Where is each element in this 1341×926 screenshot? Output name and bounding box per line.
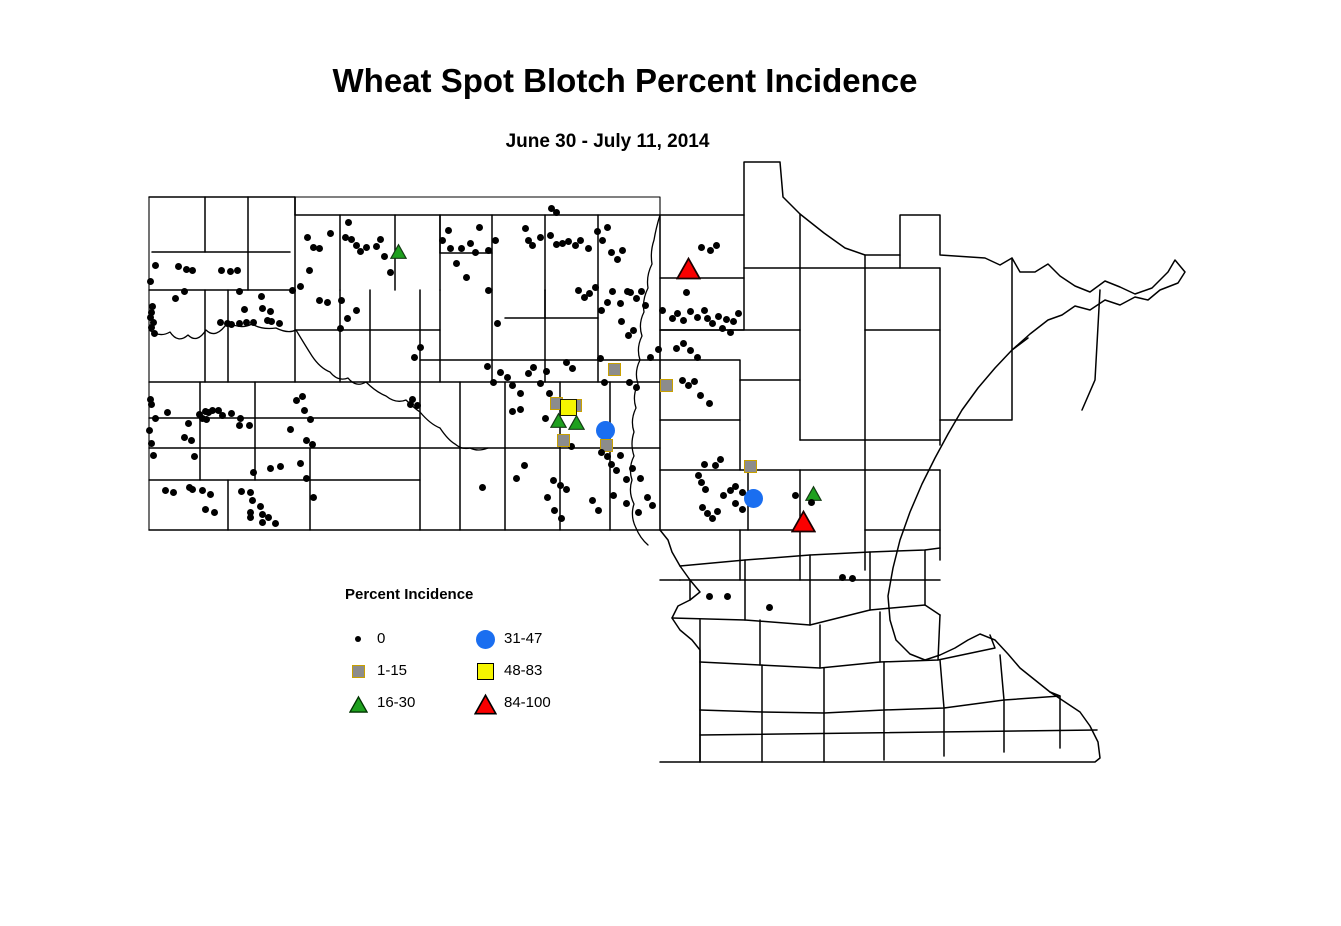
incidence-point-0 <box>267 465 274 472</box>
incidence-point-0 <box>522 225 529 232</box>
incidence-point-0 <box>739 489 746 496</box>
incidence-point-0 <box>674 310 681 317</box>
incidence-point-0 <box>638 288 645 295</box>
incidence-point-0 <box>623 500 630 507</box>
incidence-point-0 <box>265 514 272 521</box>
incidence-point-0 <box>250 319 257 326</box>
red-triangle-icon <box>472 690 498 716</box>
incidence-point-0 <box>517 406 524 413</box>
yellow-square-icon <box>472 658 498 684</box>
incidence-point-0 <box>152 415 159 422</box>
incidence-point-0 <box>236 422 243 429</box>
incidence-point-0 <box>683 289 690 296</box>
incidence-point-0 <box>363 244 370 251</box>
legend-title: Percent Incidence <box>345 586 473 603</box>
incidence-point-0 <box>808 499 815 506</box>
incidence-point-0 <box>170 489 177 496</box>
incidence-point-0 <box>276 320 283 327</box>
incidence-point-0 <box>604 299 611 306</box>
incidence-point-0 <box>257 503 264 510</box>
incidence-point-0 <box>792 492 799 499</box>
incidence-point-0 <box>706 593 713 600</box>
incidence-point-0 <box>709 320 716 327</box>
incidence-point-0 <box>297 460 304 467</box>
incidence-point-0 <box>259 519 266 526</box>
incidence-point-0 <box>306 267 313 274</box>
incidence-point-0 <box>181 434 188 441</box>
incidence-point-0 <box>735 310 742 317</box>
incidence-point-0 <box>228 321 235 328</box>
incidence-point-0 <box>414 402 421 409</box>
incidence-point-0 <box>691 378 698 385</box>
incidence-point-0 <box>247 489 254 496</box>
incidence-point-0 <box>601 379 608 386</box>
incidence-point-0 <box>558 515 565 522</box>
incidence-point-84-100 <box>676 256 701 281</box>
incidence-point-0 <box>297 283 304 290</box>
incidence-point-1-15 <box>557 434 570 447</box>
map-page: Wheat Spot Blotch Percent Incidence June… <box>0 0 1341 926</box>
incidence-point-0 <box>345 219 352 226</box>
minnesota-boundaries <box>660 162 1185 762</box>
incidence-point-0 <box>307 416 314 423</box>
incidence-point-0 <box>715 313 722 320</box>
incidence-point-0 <box>537 380 544 387</box>
gray-square-icon <box>345 658 371 684</box>
incidence-point-0 <box>324 299 331 306</box>
incidence-point-0 <box>595 507 602 514</box>
incidence-point-0 <box>594 228 601 235</box>
incidence-point-0 <box>679 377 686 384</box>
incidence-point-0 <box>234 267 241 274</box>
incidence-point-0 <box>727 329 734 336</box>
incidence-point-0 <box>439 237 446 244</box>
incidence-point-0 <box>659 307 666 314</box>
incidence-point-0 <box>485 287 492 294</box>
incidence-point-0 <box>247 509 254 516</box>
incidence-point-0 <box>644 494 651 501</box>
incidence-point-31-47 <box>596 421 615 440</box>
incidence-point-0 <box>649 502 656 509</box>
incidence-point-0 <box>547 232 554 239</box>
small-black-dot-icon <box>345 626 371 652</box>
incidence-point-0 <box>849 575 856 582</box>
incidence-point-0 <box>411 354 418 361</box>
incidence-point-0 <box>585 245 592 252</box>
incidence-point-0 <box>310 494 317 501</box>
incidence-point-0 <box>151 330 158 337</box>
incidence-point-1-15 <box>744 460 757 473</box>
incidence-point-0 <box>381 253 388 260</box>
incidence-point-0 <box>467 240 474 247</box>
incidence-point-0 <box>630 327 637 334</box>
incidence-point-0 <box>563 359 570 366</box>
incidence-point-0 <box>629 465 636 472</box>
incidence-point-0 <box>485 247 492 254</box>
incidence-point-0 <box>237 415 244 422</box>
incidence-point-0 <box>697 392 704 399</box>
incidence-point-0 <box>517 390 524 397</box>
incidence-point-0 <box>608 249 615 256</box>
incidence-point-0 <box>509 382 516 389</box>
incidence-point-0 <box>509 408 516 415</box>
incidence-point-0 <box>218 267 225 274</box>
incidence-point-0 <box>623 476 630 483</box>
incidence-point-0 <box>513 475 520 482</box>
incidence-point-0 <box>626 379 633 386</box>
incidence-point-0 <box>316 297 323 304</box>
incidence-point-0 <box>613 467 620 474</box>
incidence-point-0 <box>327 230 334 237</box>
incidence-point-0 <box>150 452 157 459</box>
incidence-point-0 <box>680 317 687 324</box>
incidence-point-84-100 <box>791 509 816 534</box>
incidence-point-0 <box>472 249 479 256</box>
map-canvas <box>0 0 1341 926</box>
incidence-point-0 <box>241 306 248 313</box>
incidence-point-0 <box>730 318 737 325</box>
incidence-point-0 <box>706 400 713 407</box>
incidence-point-0 <box>479 484 486 491</box>
incidence-point-0 <box>492 237 499 244</box>
incidence-point-0 <box>497 369 504 376</box>
incidence-point-0 <box>164 409 171 416</box>
incidence-point-0 <box>589 497 596 504</box>
incidence-point-0 <box>152 262 159 269</box>
incidence-point-0 <box>766 604 773 611</box>
incidence-point-0 <box>250 469 257 476</box>
legend: Percent Incidence 01-1516-30 31-4748-838… <box>345 586 585 711</box>
incidence-point-0 <box>453 260 460 267</box>
incidence-point-0 <box>277 463 284 470</box>
incidence-point-0 <box>707 247 714 254</box>
incidence-point-0 <box>417 344 424 351</box>
incidence-point-0 <box>544 494 551 501</box>
incidence-point-0 <box>543 368 550 375</box>
incidence-point-0 <box>337 325 344 332</box>
incidence-point-0 <box>655 346 662 353</box>
incidence-point-0 <box>243 319 250 326</box>
incidence-point-0 <box>633 295 640 302</box>
incidence-point-0 <box>207 491 214 498</box>
incidence-point-0 <box>304 234 311 241</box>
incidence-point-0 <box>714 508 721 515</box>
incidence-point-0 <box>717 456 724 463</box>
incidence-point-0 <box>267 308 274 315</box>
incidence-point-0 <box>463 274 470 281</box>
incidence-point-16-30 <box>550 412 567 429</box>
incidence-point-0 <box>635 509 642 516</box>
incidence-point-31-47 <box>744 489 763 508</box>
incidence-point-0 <box>236 320 243 327</box>
incidence-point-0 <box>592 284 599 291</box>
incidence-point-0 <box>569 365 576 372</box>
incidence-point-0 <box>227 268 234 275</box>
incidence-point-0 <box>189 267 196 274</box>
incidence-point-0 <box>739 506 746 513</box>
incidence-point-0 <box>698 244 705 251</box>
incidence-point-0 <box>525 370 532 377</box>
incidence-point-0 <box>565 238 572 245</box>
incidence-point-0 <box>724 593 731 600</box>
legend-item-label: 31-47 <box>504 630 542 647</box>
incidence-point-0 <box>147 278 154 285</box>
incidence-point-0 <box>619 247 626 254</box>
incidence-point-0 <box>238 488 245 495</box>
incidence-point-0 <box>289 287 296 294</box>
incidence-point-0 <box>701 307 708 314</box>
incidence-point-0 <box>694 354 701 361</box>
incidence-point-0 <box>494 320 501 327</box>
incidence-point-0 <box>597 355 604 362</box>
incidence-point-0 <box>299 393 306 400</box>
incidence-point-0 <box>719 325 726 332</box>
incidence-point-0 <box>175 263 182 270</box>
legend-item-label: 0 <box>377 630 385 647</box>
incidence-point-0 <box>373 243 380 250</box>
incidence-point-0 <box>575 287 582 294</box>
incidence-point-0 <box>191 453 198 460</box>
incidence-point-0 <box>316 245 323 252</box>
legend-item-label: 84-100 <box>504 694 551 711</box>
incidence-point-1-15 <box>660 379 673 392</box>
incidence-point-0 <box>614 256 621 263</box>
incidence-point-0 <box>694 314 701 321</box>
incidence-point-0 <box>687 308 694 315</box>
incidence-point-0 <box>604 453 611 460</box>
incidence-point-0 <box>608 461 615 468</box>
incidence-point-0 <box>211 509 218 516</box>
incidence-point-0 <box>713 242 720 249</box>
incidence-point-0 <box>699 504 706 511</box>
incidence-point-0 <box>344 315 351 322</box>
incidence-point-0 <box>546 390 553 397</box>
incidence-point-0 <box>268 318 275 325</box>
incidence-point-0 <box>181 288 188 295</box>
incidence-point-0 <box>203 416 210 423</box>
incidence-point-0 <box>698 479 705 486</box>
incidence-point-0 <box>504 374 511 381</box>
incidence-point-0 <box>609 288 616 295</box>
incidence-point-0 <box>484 363 491 370</box>
incidence-point-0 <box>687 347 694 354</box>
incidence-point-0 <box>287 426 294 433</box>
incidence-point-0 <box>148 401 155 408</box>
incidence-point-0 <box>445 227 452 234</box>
incidence-point-0 <box>476 224 483 231</box>
incidence-point-0 <box>633 384 640 391</box>
incidence-point-0 <box>563 486 570 493</box>
incidence-point-0 <box>617 300 624 307</box>
incidence-point-0 <box>712 462 719 469</box>
incidence-point-0 <box>303 475 310 482</box>
incidence-point-0 <box>642 302 649 309</box>
incidence-point-0 <box>188 437 195 444</box>
incidence-point-0 <box>732 500 739 507</box>
incidence-point-0 <box>586 290 593 297</box>
incidence-point-0 <box>604 224 611 231</box>
incidence-point-0 <box>189 486 196 493</box>
incidence-point-0 <box>387 269 394 276</box>
incidence-point-0 <box>723 316 730 323</box>
incidence-point-0 <box>458 245 465 252</box>
incidence-point-0 <box>618 318 625 325</box>
incidence-point-0 <box>348 236 355 243</box>
incidence-point-0 <box>353 307 360 314</box>
incidence-point-0 <box>185 420 192 427</box>
incidence-point-0 <box>577 237 584 244</box>
incidence-point-0 <box>447 245 454 252</box>
incidence-point-0 <box>598 307 605 314</box>
incidence-point-0 <box>148 440 155 447</box>
incidence-point-0 <box>680 340 687 347</box>
incidence-point-16-30 <box>390 243 407 260</box>
incidence-point-0 <box>624 288 631 295</box>
incidence-point-0 <box>673 345 680 352</box>
incidence-point-0 <box>219 412 226 419</box>
map-svg <box>0 0 1341 926</box>
incidence-point-0 <box>377 236 384 243</box>
incidence-point-0 <box>246 422 253 429</box>
incidence-point-0 <box>839 574 846 581</box>
incidence-point-0 <box>537 234 544 241</box>
incidence-point-0 <box>637 475 644 482</box>
incidence-point-0 <box>202 506 209 513</box>
incidence-point-0 <box>521 462 528 469</box>
incidence-point-0 <box>709 515 716 522</box>
incidence-point-0 <box>702 486 709 493</box>
incidence-point-0 <box>542 415 549 422</box>
incidence-point-0 <box>550 477 557 484</box>
incidence-point-0 <box>732 483 739 490</box>
incidence-point-0 <box>217 319 224 326</box>
incidence-point-0 <box>490 379 497 386</box>
incidence-point-0 <box>617 452 624 459</box>
incidence-point-0 <box>172 295 179 302</box>
incidence-point-0 <box>259 305 266 312</box>
incidence-point-0 <box>228 410 235 417</box>
incidence-point-0 <box>301 407 308 414</box>
incidence-point-0 <box>695 472 702 479</box>
legend-item-label: 48-83 <box>504 662 542 679</box>
incidence-point-0 <box>610 492 617 499</box>
green-triangle-icon <box>345 690 371 716</box>
incidence-point-16-30 <box>568 414 585 431</box>
incidence-point-0 <box>146 427 153 434</box>
incidence-point-0 <box>338 297 345 304</box>
incidence-point-0 <box>553 209 560 216</box>
incidence-point-0 <box>409 396 416 403</box>
blue-circle-icon <box>472 626 498 652</box>
incidence-point-0 <box>199 487 206 494</box>
incidence-point-0 <box>272 520 279 527</box>
incidence-point-0 <box>701 461 708 468</box>
incidence-point-0 <box>551 507 558 514</box>
incidence-point-0 <box>309 441 316 448</box>
incidence-point-0 <box>647 354 654 361</box>
incidence-point-0 <box>599 237 606 244</box>
incidence-point-1-15 <box>608 363 621 376</box>
incidence-point-0 <box>162 487 169 494</box>
legend-item-label: 1-15 <box>377 662 407 679</box>
incidence-point-0 <box>249 497 256 504</box>
incidence-point-0 <box>720 492 727 499</box>
legend-item-label: 16-30 <box>377 694 415 711</box>
incidence-point-0 <box>530 364 537 371</box>
incidence-point-0 <box>529 242 536 249</box>
incidence-point-0 <box>236 288 243 295</box>
incidence-point-0 <box>258 293 265 300</box>
